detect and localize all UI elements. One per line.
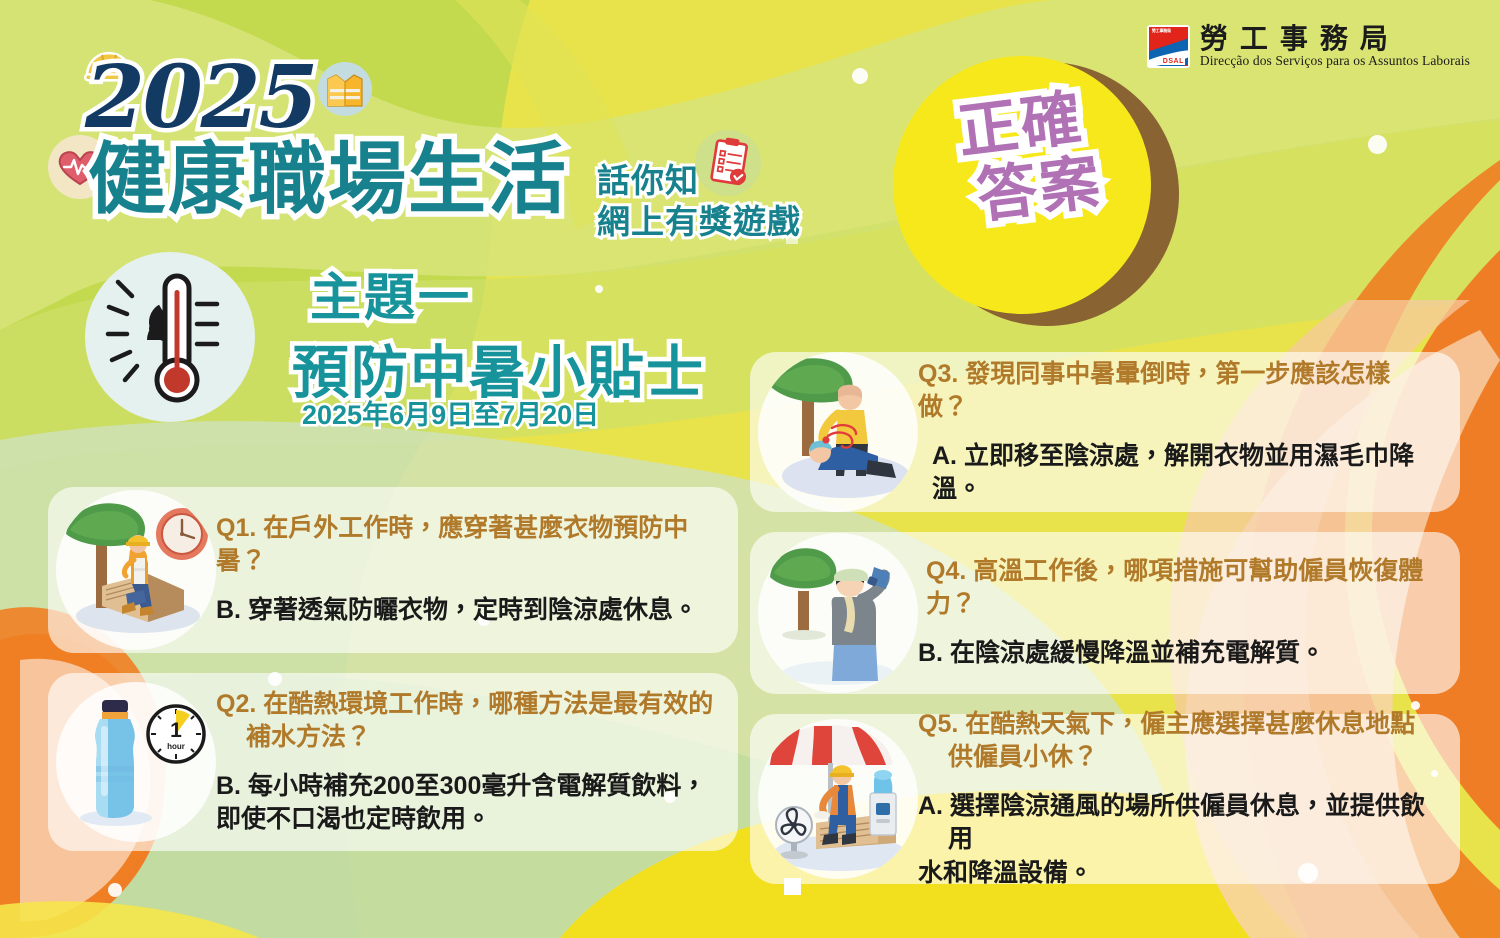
clipboard-checklist-icon bbox=[695, 130, 761, 196]
decor-dot bbox=[108, 883, 122, 897]
theme-name: 預防中暑小貼士 bbox=[292, 345, 705, 402]
page-title: 健康職場生活 bbox=[88, 140, 568, 218]
safety-vest-badge bbox=[318, 62, 372, 116]
qa-illustration-q4 bbox=[758, 533, 918, 693]
qa-body-q3: Q3. 發現同事中暑暈倒時，第一步應該怎樣做？ A. 立即移至陰涼處，解開衣物並… bbox=[918, 358, 1460, 507]
theme-date: 2025年6月9日至7月20日 bbox=[302, 402, 599, 429]
worker-drinking-water-icon bbox=[758, 533, 918, 693]
theme-label: 主題一 bbox=[310, 272, 472, 323]
dsal-mark-acronym: DSAL bbox=[1162, 58, 1185, 65]
qa-illustration-q5 bbox=[758, 719, 918, 879]
clipboard-checklist-badge bbox=[695, 130, 761, 196]
page-year: 2025 bbox=[85, 55, 316, 141]
qa-card-q5: Q5. 在酷熱天氣下，僱主應選擇甚麼休息地點供僱員小休？ A. 選擇陰涼通風的場… bbox=[750, 714, 1460, 884]
qa-body-q2: Q2. 在酷熱環境工作時，哪種方法是最有效的補水方法？ B. 每小時補充200至… bbox=[216, 688, 738, 837]
question-text-q2: Q2. 在酷熱環境工作時，哪種方法是最有效的補水方法？ bbox=[216, 688, 714, 754]
qa-card-q4: Q4. 高溫工作後，哪項措施可幫助僱員恢復體力？ B. 在陰涼處緩慢降溫並補充電… bbox=[750, 532, 1460, 694]
worker-resting-under-parasol-icon bbox=[758, 719, 918, 879]
question-text-q1: Q1. 在戶外工作時，應穿著甚麼衣物預防中暑？ bbox=[216, 512, 714, 578]
sun-thermometer-icon bbox=[85, 252, 255, 422]
qa-illustration-q3 bbox=[758, 352, 918, 512]
subtitle-line-2: 網上有獎遊戲 bbox=[597, 201, 801, 242]
qa-body-q1: Q1. 在戶外工作時，應穿著甚麼衣物預防中暑？ B. 穿著透氣防曬衣物，定時到陰… bbox=[216, 512, 738, 628]
worker-resting-under-tree-icon bbox=[56, 490, 216, 650]
dsal-logo: 勞工事務局 DSAL 勞工事務局 Direcção dos Serviços p… bbox=[1147, 24, 1470, 69]
answer-text-q5: A. 選擇陰涼通風的場所供僱員休息，並提供飲用水和降溫設備。 bbox=[918, 790, 1436, 891]
question-text-q5: Q5. 在酷熱天氣下，僱主應選擇甚麼休息地點供僱員小休？ bbox=[918, 708, 1436, 774]
dsal-name-pt: Direcção dos Serviços para os Assuntos L… bbox=[1200, 54, 1470, 69]
answer-text-q4: B. 在陰涼處緩慢降溫並補充電解質。 bbox=[918, 637, 1436, 671]
qa-body-q4: Q4. 高溫工作後，哪項措施可幫助僱員恢復體力？ B. 在陰涼處緩慢降溫並補充電… bbox=[918, 555, 1460, 671]
qa-card-q3: Q3. 發現同事中暑暈倒時，第一步應該怎樣做？ A. 立即移至陰涼處，解開衣物並… bbox=[750, 352, 1460, 512]
answer-text-q3: A. 立即移至陰涼處，解開衣物並用濕毛巾降溫。 bbox=[918, 440, 1436, 507]
dsal-mark-top-text: 勞工事務局 bbox=[1152, 29, 1171, 33]
qa-illustration-q1 bbox=[56, 490, 216, 650]
answer-line-2-q5: 水和降溫設備。 bbox=[948, 857, 1436, 891]
question-text-q3: Q3. 發現同事中暑暈倒時，第一步應該怎樣做？ bbox=[918, 358, 1436, 424]
answer-line-1-q5: A. 選擇陰涼通風的場所供僱員休息，並提供飲用 bbox=[918, 792, 1425, 854]
svg-text:1: 1 bbox=[170, 719, 182, 742]
answer-line-2-q2: 即使不口渴也定時飲用。 bbox=[246, 803, 714, 837]
dsal-name-zh: 勞工事務局 bbox=[1200, 24, 1470, 53]
answer-line-1-q2: B. 每小時補充200至300毫升含電解質飲料， bbox=[216, 772, 706, 800]
water-bottle-with-one-hour-clock-icon: 1 hour bbox=[56, 682, 216, 842]
dsal-logo-mark: 勞工事務局 DSAL bbox=[1147, 25, 1190, 68]
qa-illustration-q2: 1 hour bbox=[56, 682, 216, 842]
first-aid-heatstroke-rescue-icon bbox=[758, 352, 918, 512]
answer-text-q2: B. 每小時補充200至300毫升含電解質飲料，即使不口渴也定時飲用。 bbox=[216, 770, 714, 837]
qa-card-q1: Q1. 在戶外工作時，應穿著甚麼衣物預防中暑？ B. 穿著透氣防曬衣物，定時到陰… bbox=[48, 487, 738, 653]
poster-header: 2025 健康職場生活 話你知 網上有獎遊戲 bbox=[0, 0, 1500, 340]
svg-text:hour: hour bbox=[167, 742, 185, 751]
question-text-q4: Q4. 高溫工作後，哪項措施可幫助僱員恢復體力？ bbox=[918, 555, 1436, 621]
poster-root: 2025 健康職場生活 話你知 網上有獎遊戲 bbox=[0, 0, 1500, 938]
qa-card-q2: 1 hour Q2. 在酷熱環境工作時，哪種方法是最有效的補水方法？ B. 每小… bbox=[48, 673, 738, 851]
safety-vest-icon bbox=[318, 62, 372, 116]
qa-body-q5: Q5. 在酷熱天氣下，僱主應選擇甚麼休息地點供僱員小休？ A. 選擇陰涼通風的場… bbox=[918, 708, 1460, 891]
answer-text-q1: B. 穿著透氣防曬衣物，定時到陰涼處休息。 bbox=[216, 594, 714, 628]
sun-thermometer-badge bbox=[85, 252, 255, 422]
